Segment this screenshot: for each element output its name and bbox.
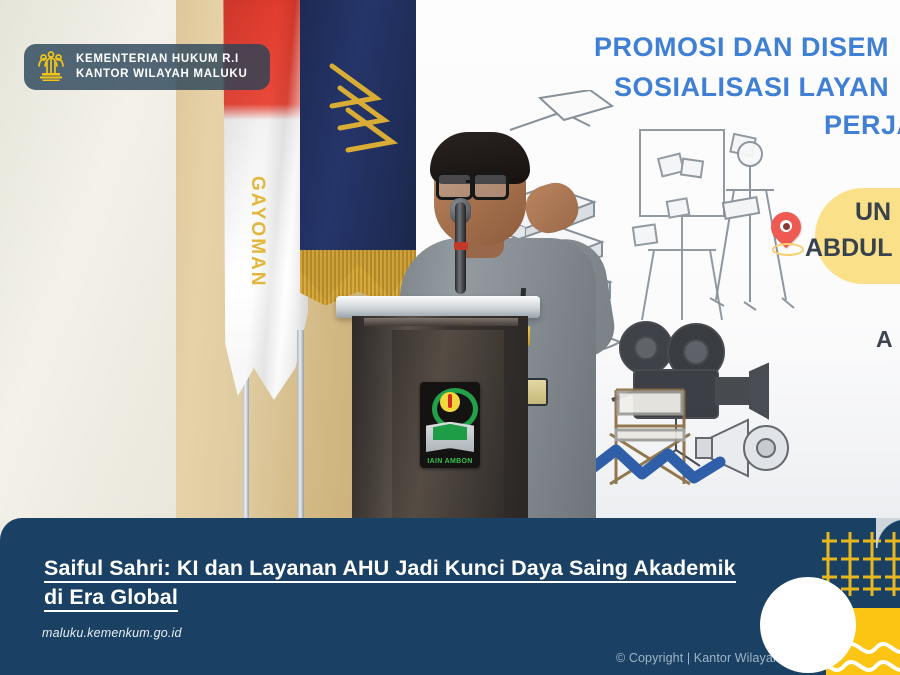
podium-top [336, 296, 540, 318]
brand-line2: KANTOR WILAYAH MALUKU [76, 68, 247, 81]
venue-line1: UN [855, 198, 891, 227]
site-url[interactable]: maluku.kemenkum.go.id [42, 626, 182, 640]
article-headline-text: Saiful Sahri: KI dan Layanan AHU Jadi Ku… [44, 556, 736, 612]
venue-line3: A [876, 326, 893, 353]
eyeglasses-right-lens [472, 172, 509, 200]
venue-line2: ABDUL [805, 234, 893, 263]
podium-shelf [364, 318, 518, 326]
backdrop-headline-line3: PERJA [824, 110, 900, 141]
backdrop-headline-line1: PROMOSI DAN DISEM [594, 32, 889, 63]
brand-line1: KEMENTERIAN HUKUM R.I [76, 53, 247, 66]
iain-emblem-text: IAIN AMBON [420, 458, 480, 465]
article-headline[interactable]: Saiful Sahri: KI dan Layanan AHU Jadi Ku… [44, 554, 756, 612]
location-pin-icon [771, 212, 801, 254]
microphone-red-band [454, 242, 468, 250]
pengayoman-tree-logo-icon [36, 51, 66, 83]
caption-panel: Saiful Sahri: KI dan Layanan AHU Jadi Ku… [0, 518, 900, 675]
brand-badge: KEMENTERIAN HUKUM R.I KANTOR WILAYAH MAL… [24, 44, 270, 90]
flagpole-ministry [297, 330, 304, 520]
wave-decoration [818, 640, 900, 675]
corner-arc-decoration [876, 518, 900, 548]
iain-ambon-emblem: IAIN AMBON [420, 382, 480, 468]
screenshot-root: PROMOSI DAN DISEM SOSIALISASI LAYAN PERJ… [0, 0, 900, 675]
backdrop-headline-line2: SOSIALISASI LAYAN [614, 72, 889, 103]
ministry-flag-text: GAYOMAN [246, 176, 268, 336]
eyeglasses-left-lens [436, 172, 473, 200]
